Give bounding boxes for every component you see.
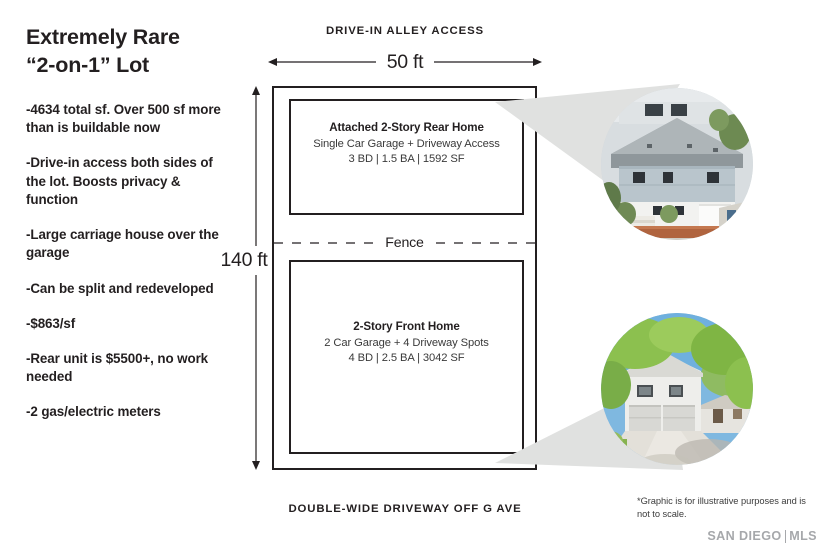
page-title-line-2: “2-on-1” Lot xyxy=(26,52,231,80)
front-home-photo xyxy=(601,313,753,465)
rear-home-block: Attached 2-Story Rear Home Single Car Ga… xyxy=(289,99,524,215)
feature-bullet-total-sf: -4634 total sf. Over 500 sf more than is… xyxy=(26,101,231,137)
front-home-text-group: 2-Story Front Home 2 Car Garage + 4 Driv… xyxy=(291,320,522,367)
logo-text-right: MLS xyxy=(789,529,817,543)
front-home-block: 2-Story Front Home 2 Car Garage + 4 Driv… xyxy=(289,260,524,454)
feature-bullet-rear-unit-rent: -Rear unit is $5500+, no work needed xyxy=(26,350,231,386)
disclaimer-text: *Graphic is for illustrative purposes an… xyxy=(637,495,817,521)
front-home-title: 2-Story Front Home xyxy=(291,320,522,333)
feature-bullet-split-redevelop: -Can be split and redeveloped xyxy=(26,280,231,298)
lot-outline: Attached 2-Story Rear Home Single Car Ga… xyxy=(272,86,537,470)
logo-divider-icon xyxy=(785,530,787,543)
lot-width-dimension: 50 ft xyxy=(268,48,542,76)
feature-bullet-drive-in-access: -Drive-in access both sides of the lot. … xyxy=(26,154,231,209)
fence-label-wrap: Fence xyxy=(274,232,535,254)
rear-home-text-group: Attached 2-Story Rear Home Single Car Ga… xyxy=(291,121,522,168)
left-info-column: Extremely Rare “2-on-1” Lot -4634 total … xyxy=(26,24,231,422)
lot-width-label: 50 ft xyxy=(268,48,542,76)
fence-label: Fence xyxy=(376,235,432,251)
front-home-parking: 2 Car Garage + 4 Driveway Spots xyxy=(291,336,522,351)
rear-home-title: Attached 2-Story Rear Home xyxy=(291,121,522,134)
lot-width-value: 50 ft xyxy=(376,51,434,73)
san-diego-mls-logo: SAN DIEGO MLS xyxy=(707,529,817,543)
page-title: Extremely Rare “2-on-1” Lot xyxy=(26,24,231,79)
driveway-caption: DOUBLE-WIDE DRIVEWAY OFF G AVE xyxy=(272,503,538,515)
feature-bullet-price-per-sf: -$863/sf xyxy=(26,315,231,333)
alley-access-label: DRIVE-IN ALLEY ACCESS xyxy=(272,25,538,37)
page-title-line-1: Extremely Rare xyxy=(26,24,231,52)
front-home-specs: 4 BD | 2.5 BA | 3042 SF xyxy=(291,351,522,366)
rear-home-parking: Single Car Garage + Driveway Access xyxy=(291,137,522,152)
rear-home-photo xyxy=(601,88,753,240)
logo-text-left: SAN DIEGO xyxy=(707,529,781,543)
feature-bullet-meters: -2 gas/electric meters xyxy=(26,403,231,421)
rear-home-specs: 3 BD | 1.5 BA | 1592 SF xyxy=(291,152,522,167)
fence-divider: Fence xyxy=(274,232,535,254)
